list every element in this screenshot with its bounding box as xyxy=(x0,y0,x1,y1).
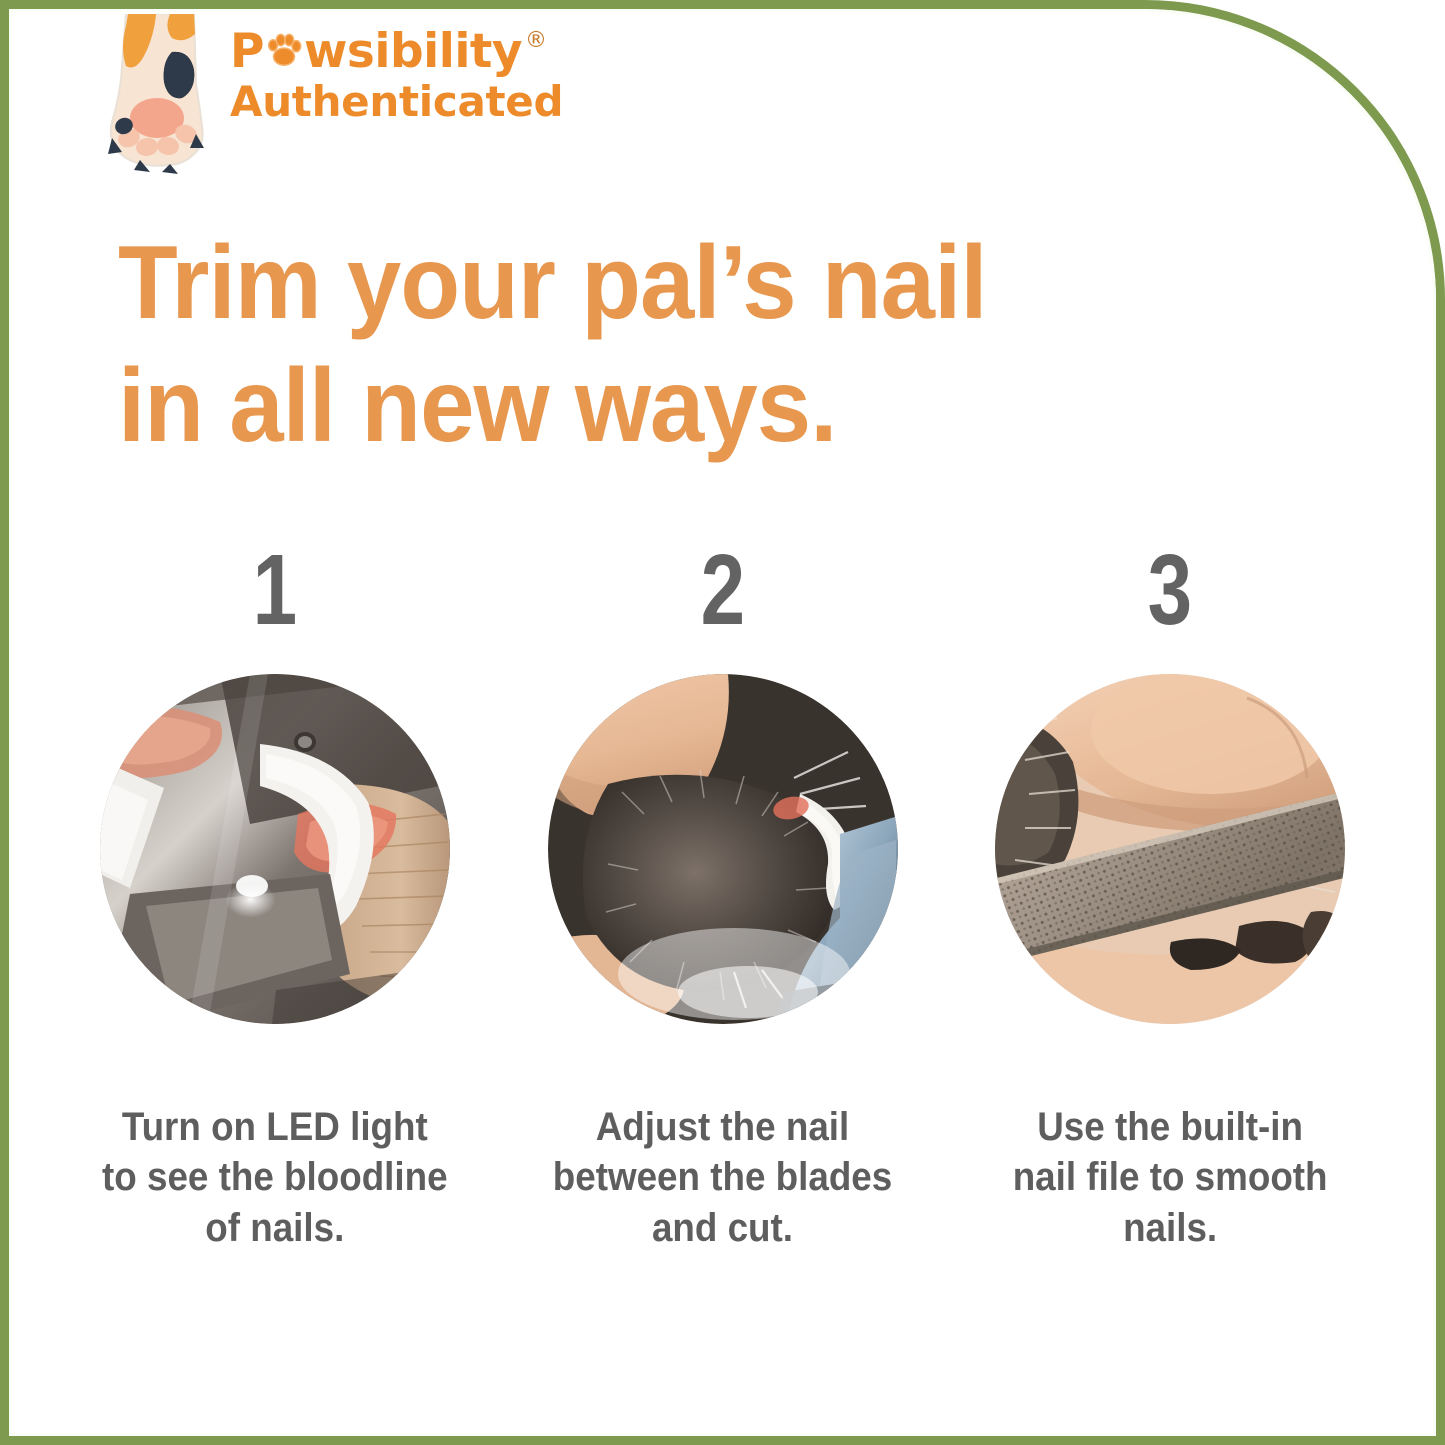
step-1-photo xyxy=(100,674,450,1024)
step-2-photo xyxy=(548,674,898,1024)
step-2-number: 2 xyxy=(700,540,745,644)
built-in-nail-file-smoothing-photo xyxy=(995,674,1345,1024)
steps-row: 1 xyxy=(60,540,1385,1253)
step-3: 3 xyxy=(955,540,1385,1253)
brand-letters-rest: wsibility xyxy=(304,28,522,75)
step-1-caption: Turn on LED light to see the bloodline o… xyxy=(102,1102,448,1253)
product-infographic-poster: P wsibility ® Authenticated Trim your xyxy=(0,0,1445,1445)
page-headline: Trim your pal’s nail in all new ways. xyxy=(118,222,1058,467)
step-3-caption: Use the built-in nail file to smooth nai… xyxy=(1013,1102,1328,1253)
headline-line-1: Trim your pal’s nail xyxy=(118,222,1058,345)
step-1-number: 1 xyxy=(253,540,298,644)
step-2: 2 xyxy=(508,540,938,1253)
step-3-number: 3 xyxy=(1148,540,1193,644)
brand-subtitle: Authenticated xyxy=(230,77,563,127)
brand-letter-p: P xyxy=(230,28,264,75)
paw-print-icon xyxy=(265,31,303,69)
nail-clipper-led-light-bloodline-photo xyxy=(100,674,450,1024)
brand-wordmark: P wsibility ® Authenticated xyxy=(230,14,563,127)
step-2-caption: Adjust the nail between the blades and c… xyxy=(553,1102,892,1253)
registered-trademark-icon: ® xyxy=(525,30,547,52)
step-1: 1 xyxy=(60,540,490,1253)
step-3-photo xyxy=(995,674,1345,1024)
brand-logo: P wsibility ® Authenticated xyxy=(98,14,563,174)
calico-cat-paw-icon xyxy=(98,14,216,174)
headline-line-2: in all new ways. xyxy=(118,345,1058,468)
paw-claw-between-blades-photo xyxy=(548,674,898,1024)
